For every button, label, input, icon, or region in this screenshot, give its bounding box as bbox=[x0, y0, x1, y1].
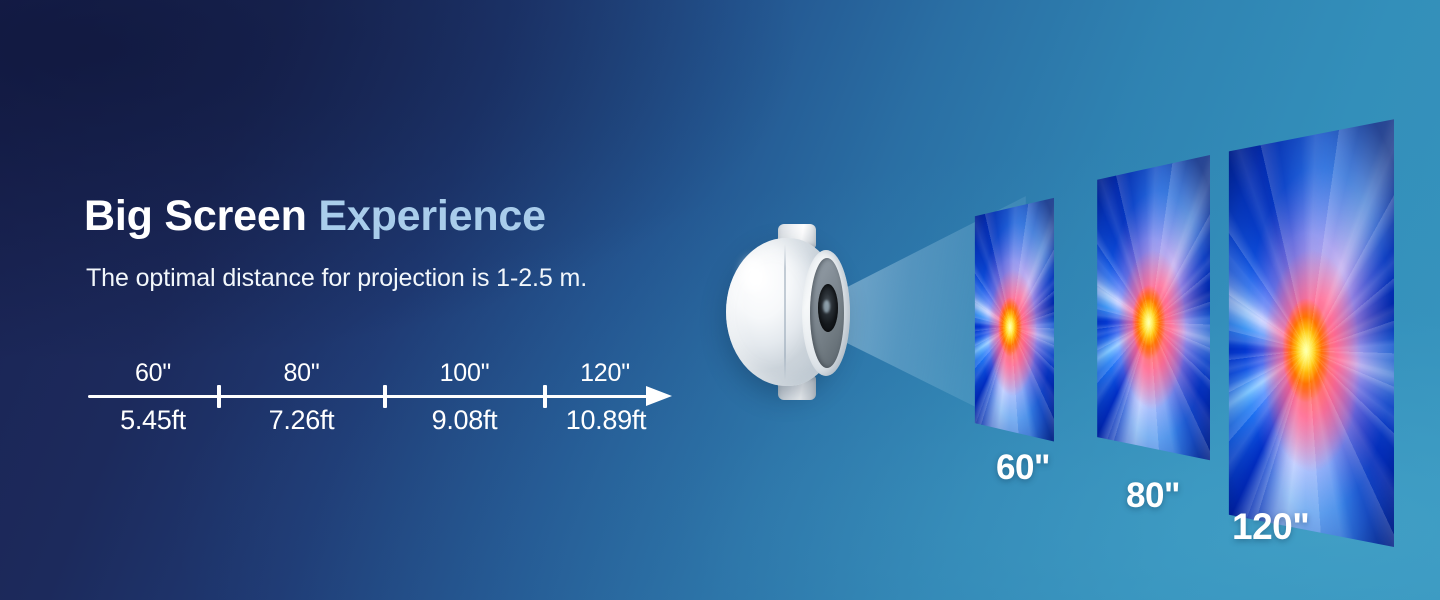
background-shade bbox=[0, 0, 1440, 600]
scale-size-2: 100" bbox=[386, 359, 543, 388]
scale-distance-3: 10.89ft bbox=[542, 405, 670, 436]
scale-distance-1: 7.26ft bbox=[220, 405, 383, 436]
headline-blue-part: Experience bbox=[318, 192, 545, 240]
promotional-banner: Big Screen Experience The optimal distan… bbox=[0, 0, 1440, 600]
screen-size-label-120: 120" bbox=[1232, 506, 1309, 548]
screen-artwork-flower bbox=[1090, 150, 1210, 480]
scale-size-0: 60" bbox=[88, 359, 218, 388]
projector-lens-highlight bbox=[823, 300, 830, 313]
axis-line bbox=[88, 395, 654, 398]
axis-arrow-icon bbox=[646, 386, 672, 406]
scale-distance-0: 5.45ft bbox=[84, 405, 222, 436]
distance-scale: 60" 5.45ft 80" 7.26ft 100" 9.08ft 120" 1… bbox=[84, 355, 684, 445]
screen-artwork-flower bbox=[968, 190, 1054, 452]
scale-size-1: 80" bbox=[220, 359, 383, 388]
projector-seam bbox=[784, 244, 786, 380]
subtitle: The optimal distance for projection is 1… bbox=[86, 264, 587, 293]
projection-screen-120 bbox=[1222, 110, 1394, 570]
screen-size-label-60: 60" bbox=[996, 448, 1050, 488]
scale-distance-2: 9.08ft bbox=[386, 405, 543, 436]
projector-highlight bbox=[742, 258, 764, 292]
headline-white-part: Big Screen bbox=[84, 192, 318, 240]
projection-screen-80 bbox=[1090, 150, 1210, 480]
projector-device bbox=[726, 232, 866, 392]
projection-screen-60 bbox=[968, 190, 1054, 452]
screen-artwork-flower bbox=[1222, 110, 1394, 570]
scale-size-3: 120" bbox=[546, 359, 664, 388]
screen-size-label-80: 80" bbox=[1126, 476, 1180, 516]
background-glow bbox=[0, 0, 1440, 600]
page-title: Big Screen Experience bbox=[84, 195, 546, 238]
